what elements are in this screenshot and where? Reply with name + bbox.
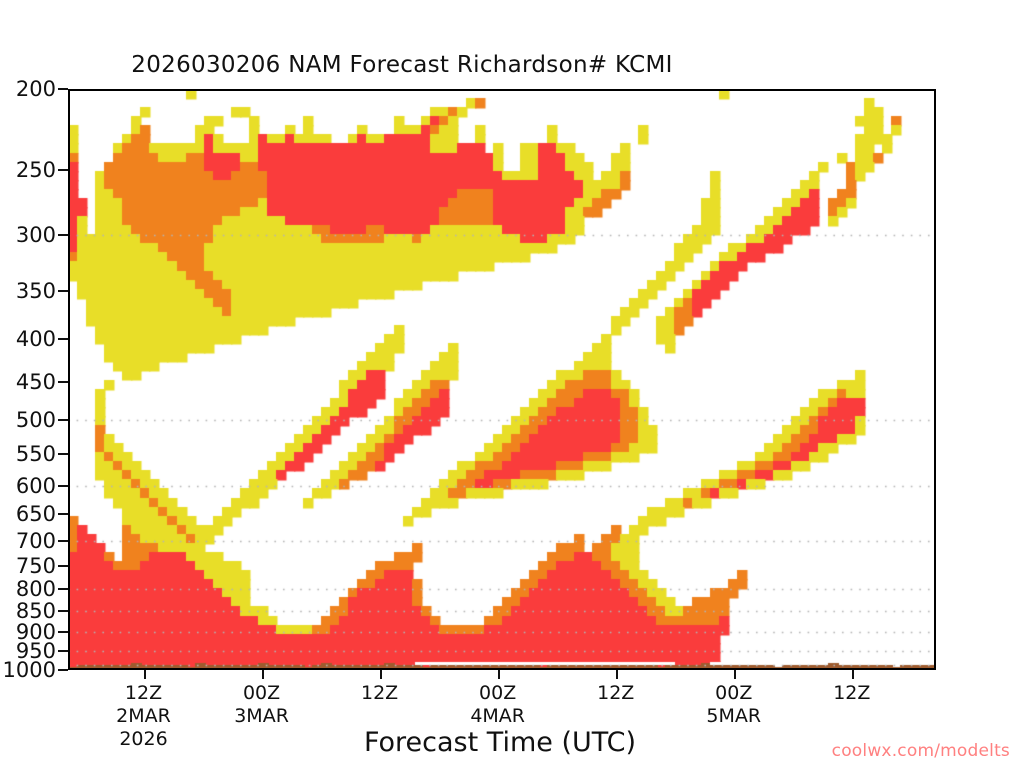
y-tick-mark-650 xyxy=(58,513,68,515)
y-tick-mark-600 xyxy=(58,485,68,487)
x-axis-title-text: Forecast Time (UTC) xyxy=(364,727,636,758)
y-tick-mark-250 xyxy=(58,169,68,171)
chart-title: 2026030206 NAM Forecast Richardson# KCMI xyxy=(0,52,1024,78)
x-tick-label-3: 00Z4MAR xyxy=(470,682,525,728)
y-tick-mark-450 xyxy=(58,381,68,383)
watermark: coolwx.com/modelts xyxy=(832,741,1010,761)
y-axis: 2002503003504004505005506006507007508008… xyxy=(0,0,56,768)
y-tick-mark-400 xyxy=(58,338,68,340)
y-tick-label-800: 800 xyxy=(16,577,56,601)
y-tick-mark-950 xyxy=(58,650,68,652)
y-tick-label-300: 300 xyxy=(16,223,56,247)
y-tick-label-750: 750 xyxy=(16,554,56,578)
x-tick-label-6: 12Z xyxy=(833,682,870,705)
y-tick-label-350: 350 xyxy=(16,279,56,303)
x-tick-label-1: 00Z3MAR xyxy=(234,682,289,728)
y-tick-label-450: 450 xyxy=(16,370,56,394)
colorbar xyxy=(941,296,1001,492)
x-tick-time-0: 12Z xyxy=(116,682,171,705)
x-tick-mark-0 xyxy=(144,670,146,679)
x-tick-mark-4 xyxy=(616,670,618,679)
y-tick-mark-850 xyxy=(58,610,68,612)
y-tick-mark-800 xyxy=(58,588,68,590)
y-tick-mark-200 xyxy=(58,88,68,90)
x-tick-mark-3 xyxy=(498,670,500,679)
y-tick-mark-750 xyxy=(58,565,68,567)
x-tick-time-1: 00Z xyxy=(234,682,289,705)
y-tick-mark-500 xyxy=(58,419,68,421)
x-tick-time-5: 00Z xyxy=(706,682,761,705)
y-tick-mark-1000 xyxy=(58,669,68,671)
y-tick-label-700: 700 xyxy=(16,529,56,553)
x-tick-time-3: 00Z xyxy=(470,682,525,705)
y-tick-mark-300 xyxy=(58,234,68,236)
x-tick-day-5: 5MAR xyxy=(706,705,761,728)
x-tick-label-2: 12Z xyxy=(361,682,398,705)
chart-title-text: 2026030206 NAM Forecast Richardson# KCMI xyxy=(131,52,672,78)
heatmap-plot-area xyxy=(68,89,936,670)
x-tick-mark-5 xyxy=(734,670,736,679)
y-tick-label-200: 200 xyxy=(16,77,56,101)
y-tick-mark-550 xyxy=(58,453,68,455)
x-tick-mark-1 xyxy=(262,670,264,679)
y-tick-label-400: 400 xyxy=(16,327,56,351)
x-tick-day-0: 2MAR xyxy=(116,705,171,728)
y-tick-label-500: 500 xyxy=(16,408,56,432)
y-tick-label-600: 600 xyxy=(16,474,56,498)
y-tick-label-650: 650 xyxy=(16,502,56,526)
x-tick-time-4: 12Z xyxy=(597,682,634,705)
x-tick-label-4: 12Z xyxy=(597,682,634,705)
x-tick-time-2: 12Z xyxy=(361,682,398,705)
chart-page: 2026030206 NAM Forecast Richardson# KCMI… xyxy=(0,0,1024,768)
x-tick-time-6: 12Z xyxy=(833,682,870,705)
x-tick-mark-6 xyxy=(852,670,854,679)
x-tick-label-5: 00Z5MAR xyxy=(706,682,761,728)
y-tick-mark-700 xyxy=(58,540,68,542)
y-tick-label-550: 550 xyxy=(16,442,56,466)
y-tick-label-1000: 1000 xyxy=(3,658,56,682)
y-tick-mark-900 xyxy=(58,631,68,633)
y-tick-label-250: 250 xyxy=(16,158,56,182)
x-tick-day-3: 4MAR xyxy=(470,705,525,728)
x-tick-mark-2 xyxy=(380,670,382,679)
y-tick-mark-350 xyxy=(58,290,68,292)
x-tick-day-1: 3MAR xyxy=(234,705,289,728)
